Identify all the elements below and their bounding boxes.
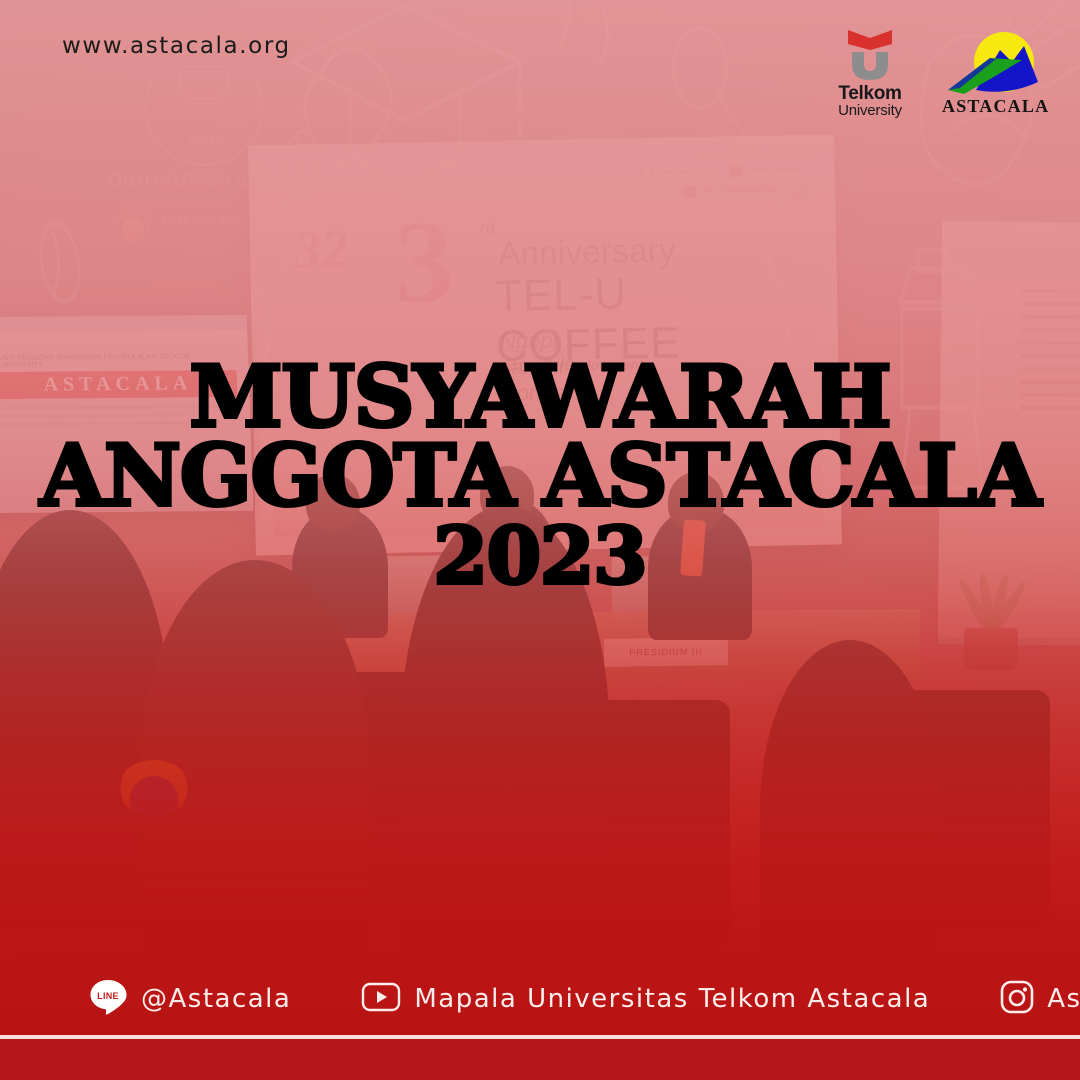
bottom-strip — [0, 1039, 1080, 1080]
website-url: www.astacala.org — [62, 33, 291, 59]
line-icon: LINE — [88, 977, 128, 1022]
title-line-3: 2023 — [0, 520, 1080, 593]
social-youtube[interactable]: Mapala Universitas Telkom Astacala — [361, 982, 930, 1017]
astacala-logo: ASTACALA — [942, 28, 1046, 117]
youtube-icon — [361, 982, 401, 1017]
instagram-icon — [1000, 980, 1034, 1019]
social-instagram-label: Astacala — [1047, 984, 1080, 1014]
telkom-logo-line2: University — [824, 103, 916, 118]
telkom-u-mark-icon — [842, 28, 898, 80]
logo-group: Telkom University ASTACALA — [824, 28, 1046, 119]
svg-text:LINE: LINE — [97, 991, 119, 1001]
telkom-logo-line1: Telkom — [824, 84, 916, 103]
social-line-label: @Astacala — [141, 984, 291, 1014]
telkom-university-logo: Telkom University — [824, 28, 916, 119]
astacala-mark-icon — [946, 28, 1042, 104]
social-footer: LINE @Astacala Mapala Universitas Telkom… — [0, 962, 1080, 1036]
title-line-2: ANGGOTA ASTACALA — [0, 437, 1080, 516]
social-line[interactable]: LINE @Astacala — [88, 977, 291, 1022]
poster-title: MUSYAWARAH ANGGOTA ASTACALA 2023 — [0, 358, 1080, 593]
poster-canvas: Tel-U DIDUKUNG OLEH : Telkom Indonesia D… — [0, 0, 1080, 1080]
social-youtube-label: Mapala Universitas Telkom Astacala — [414, 984, 930, 1014]
social-instagram[interactable]: Astacala — [1000, 980, 1080, 1019]
